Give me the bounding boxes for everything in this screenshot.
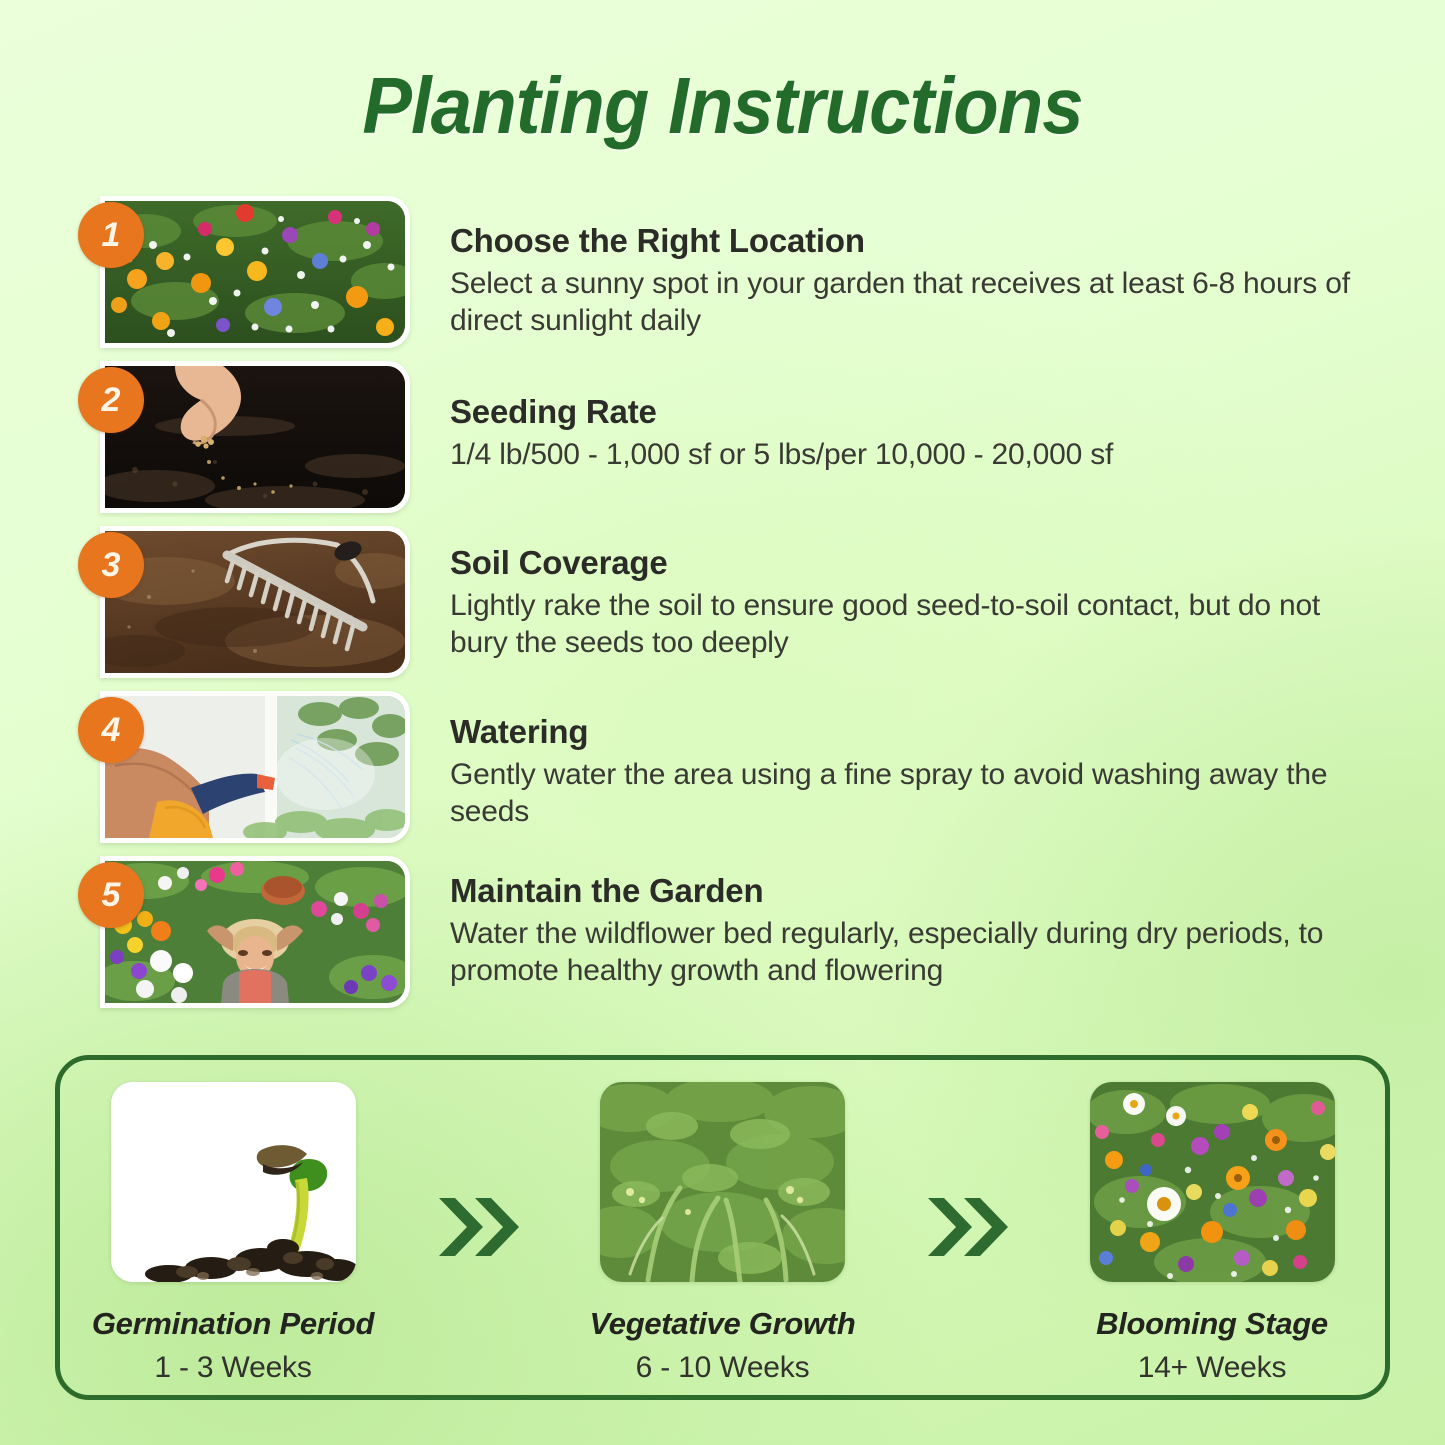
step-text: Soil Coverage Lightly rake the soil to e… (450, 544, 1380, 662)
wildflower-bouquet-photo (1090, 1082, 1335, 1282)
step-number-badge: 4 (78, 697, 144, 763)
step-item: 4 Watering Gently water the area using a… (0, 691, 1445, 856)
page-title: Planting Instructions (51, 60, 1395, 152)
timeline-stage-name: Blooming Stage (1067, 1306, 1357, 1342)
green-foliage-photo (600, 1082, 845, 1282)
step-title: Soil Coverage (450, 544, 1380, 583)
step-item: 5 Maintain the Garden Water the wildflow… (0, 856, 1445, 1021)
step-text: Maintain the Garden Water the wildflower… (450, 872, 1380, 990)
growth-timeline-panel: Germination Period 1 - 3 Weeks (55, 1055, 1390, 1400)
rake-on-soil-photo (105, 531, 405, 673)
step-number-badge: 1 (78, 202, 144, 268)
step-description: 1/4 lb/500 - 1,000 sf or 5 lbs/per 10,00… (450, 436, 1380, 474)
infographic-page: Planting Instructions (0, 0, 1445, 1445)
step-item: 1 Choose the Right Location Select a sun… (0, 196, 1445, 361)
step-thumbnail (100, 526, 410, 678)
step-title: Watering (450, 713, 1380, 752)
step-text: Choose the Right Location Select a sunny… (450, 222, 1380, 340)
timeline-stage: Vegetative Growth 6 - 10 Weeks (578, 1082, 868, 1385)
steps-list: 1 Choose the Right Location Select a sun… (0, 196, 1445, 1021)
step-title: Choose the Right Location (450, 222, 1380, 261)
timeline-stage-duration: 6 - 10 Weeks (578, 1351, 868, 1385)
step-item: 2 Seeding Rate 1/4 lb/500 - 1,000 sf or … (0, 361, 1445, 526)
step-thumbnail (100, 361, 410, 513)
timeline-stage-name: Vegetative Growth (578, 1306, 868, 1342)
timeline-stage: Germination Period 1 - 3 Weeks (88, 1082, 378, 1385)
sprouting-seedling-photo (111, 1082, 356, 1282)
timeline-stage-duration: 1 - 3 Weeks (88, 1351, 378, 1385)
step-number-badge: 3 (78, 532, 144, 598)
step-description: Select a sunny spot in your garden that … (450, 265, 1380, 340)
double-chevron-right-icon (912, 1082, 1022, 1262)
wildflower-meadow-photo (105, 201, 405, 343)
double-chevron-right-icon (423, 1082, 533, 1262)
timeline-stage-name: Germination Period (88, 1306, 378, 1342)
step-description: Gently water the area using a fine spray… (450, 756, 1380, 831)
step-number-badge: 5 (78, 862, 144, 928)
step-title: Maintain the Garden (450, 872, 1380, 911)
spray-bottle-watering-photo (105, 696, 405, 838)
woman-lying-in-flower-garden-photo (105, 861, 405, 1003)
step-title: Seeding Rate (450, 393, 1380, 432)
step-thumbnail (100, 856, 410, 1008)
step-thumbnail (100, 196, 410, 348)
timeline-stage: Blooming Stage 14+ Weeks (1067, 1082, 1357, 1385)
step-text: Seeding Rate 1/4 lb/500 - 1,000 sf or 5 … (450, 393, 1380, 473)
step-description: Water the wildflower bed regularly, espe… (450, 915, 1380, 990)
step-item: 3 Soil Coverage Lightly rake the soil to… (0, 526, 1445, 691)
step-text: Watering Gently water the area using a f… (450, 713, 1380, 831)
step-thumbnail (100, 691, 410, 843)
step-description: Lightly rake the soil to ensure good see… (450, 587, 1380, 662)
timeline-stage-duration: 14+ Weeks (1067, 1351, 1357, 1385)
step-number-badge: 2 (78, 367, 144, 433)
hand-sowing-seeds-photo (105, 366, 405, 508)
